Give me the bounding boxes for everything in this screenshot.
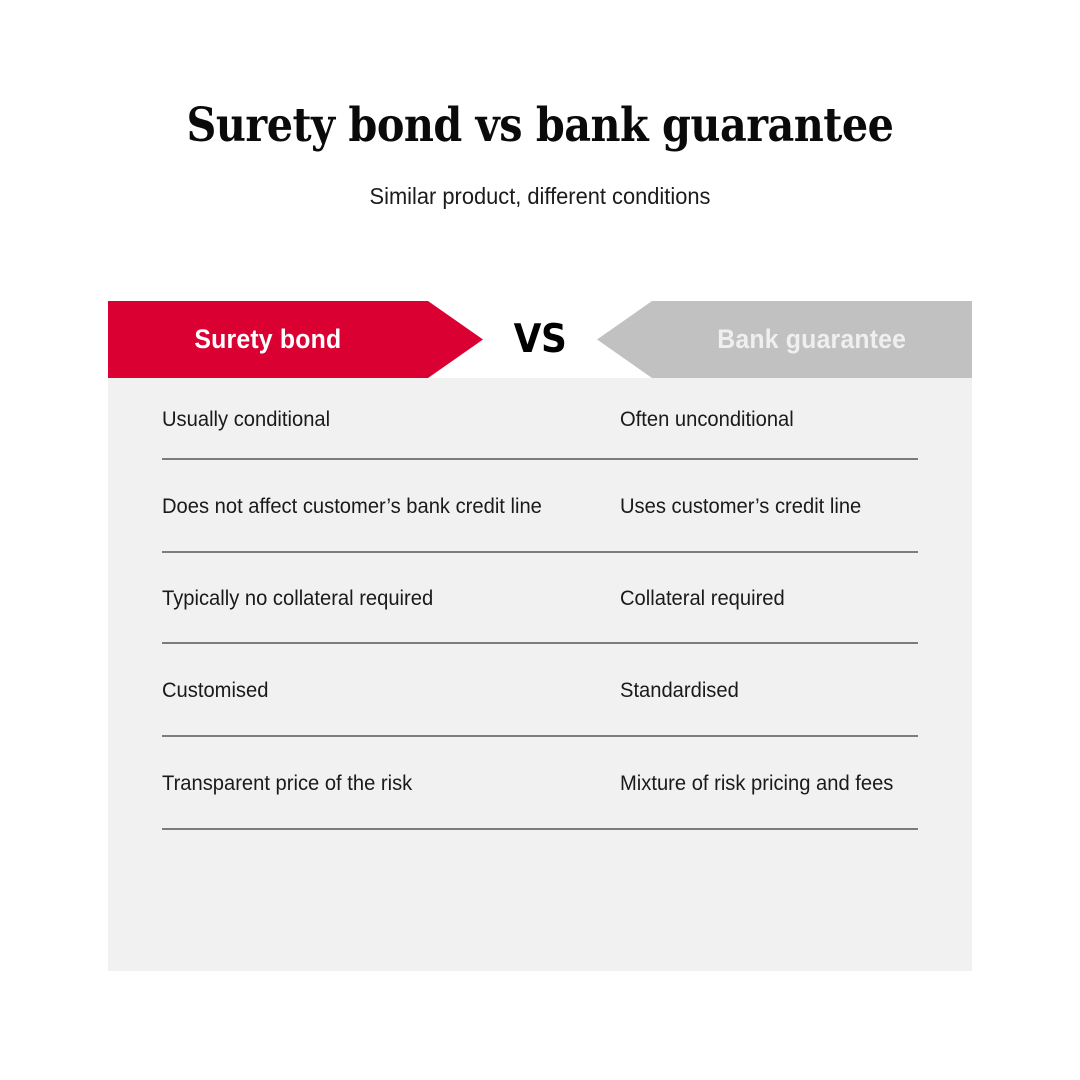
row-1-bank-guarantee-value: Uses customer’s credit line [620,492,1004,521]
surety-bond-header-label: Surety bond [195,324,342,355]
bank-guarantee-arrow-header: Bank guarantee [597,301,972,378]
table-row: Transparent price of the risk Mixture of… [108,737,972,830]
comparison-banner: Surety bond VS Bank guarantee [108,301,972,378]
page-title: Surety bond vs bank guarantee [65,98,1015,154]
table-row: Typically no collateral required Collate… [108,553,972,644]
row-0-bank-guarantee-value: Often unconditional [620,405,1004,434]
row-2-surety-bond-value: Typically no collateral required [162,584,546,613]
row-0-surety-bond-value: Usually conditional [162,405,546,434]
bank-guarantee-header-label: Bank guarantee [718,324,907,355]
row-2-bank-guarantee-value: Collateral required [620,584,1004,613]
row-4-surety-bond-value: Transparent price of the risk [162,769,546,798]
row-3-surety-bond-value: Customised [162,676,546,705]
surety-bond-arrow-header: Surety bond [108,301,483,378]
row-4-divider [162,828,918,830]
vs-badge: VS [495,301,585,378]
comparison-panel: Surety bond VS Bank guarantee Usually co… [108,301,972,971]
table-row: Customised Standardised [108,644,972,737]
row-3-bank-guarantee-value: Standardised [620,676,1004,705]
table-row: Does not affect customer’s bank credit l… [108,460,972,553]
table-row: Usually conditional Often unconditional [108,378,972,460]
row-4-bank-guarantee-value: Mixture of risk pricing and fees [620,769,1004,798]
row-1-surety-bond-value: Does not affect customer’s bank credit l… [162,492,546,521]
page-subtitle: Similar product, different conditions [27,181,1053,211]
comparison-rows: Usually conditional Often unconditional … [108,378,972,830]
